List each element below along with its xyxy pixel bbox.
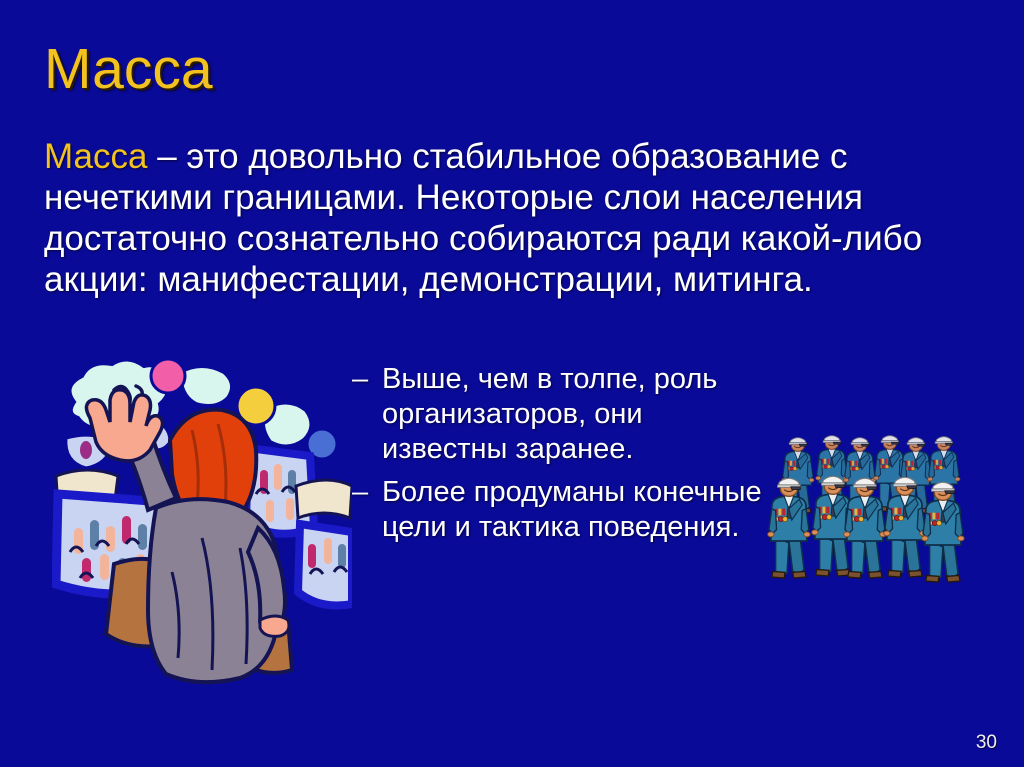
bullet-list: – Выше, чем в толпе, роль организаторов,…	[352, 362, 762, 553]
dash-bullet-icon: –	[352, 362, 382, 397]
right-hand	[260, 616, 289, 636]
page-title: Масса	[44, 36, 213, 102]
marching-veterans-illustration	[752, 428, 976, 592]
list-item: – Выше, чем в толпе, роль организаторов,…	[352, 362, 762, 467]
slide-canvas: Масса Масса – это довольно стабильное об…	[0, 0, 1024, 767]
list-item-label: Более продуманы конечные цели и тактика …	[382, 475, 762, 545]
banner-right	[296, 480, 352, 518]
list-item-label: Выше, чем в толпе, роль организаторов, о…	[382, 362, 762, 467]
woman-addressing-crowd-illustration	[52, 352, 352, 686]
page-number: 30	[976, 732, 997, 754]
paragraph-rest-text: – это довольно стабильное образование с …	[44, 137, 922, 299]
body-paragraph: Масса – это довольно стабильное образова…	[44, 136, 989, 300]
balloon-pink	[151, 359, 185, 393]
dash-bullet-icon: –	[352, 475, 382, 510]
paragraph-lead-word: Масса	[44, 137, 147, 176]
list-item: – Более продуманы конечные цели и тактик…	[352, 475, 762, 545]
veteran-front-row	[768, 476, 965, 582]
